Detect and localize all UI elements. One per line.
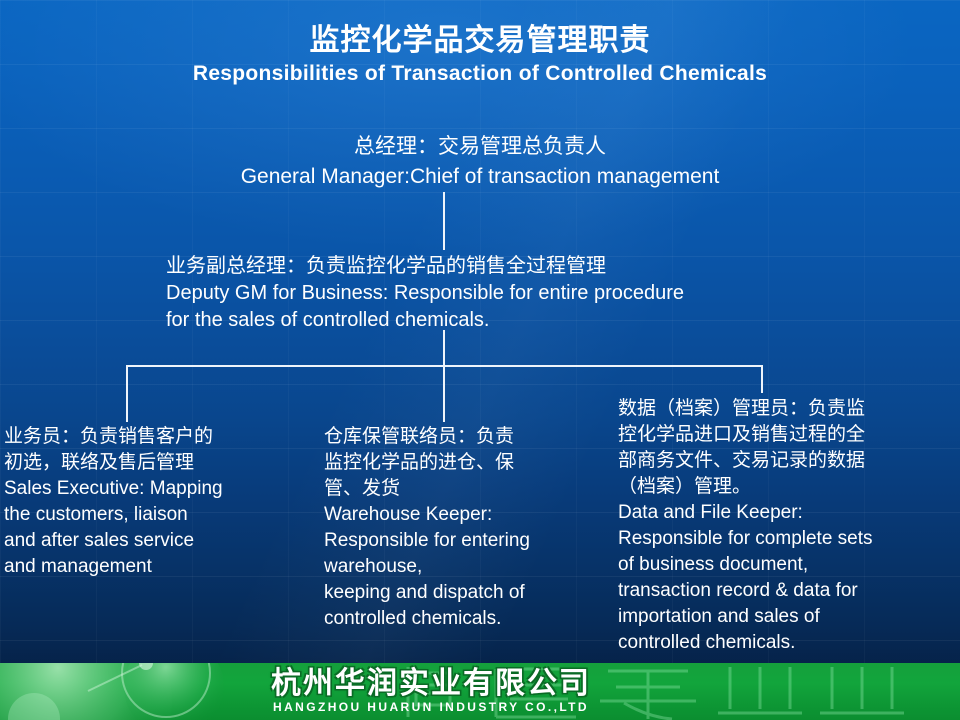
connector-vertical-deputy-to-warehouse xyxy=(443,330,445,422)
sales-executive-chinese-line2: 初选，联络及售后管理 xyxy=(4,450,304,476)
company-name-english: HANGZHOU HUARUN INDUSTRY CO.,LTD xyxy=(196,700,666,715)
data-file-keeper-english-line3: of business document, xyxy=(618,552,954,578)
data-file-keeper-chinese-line3: 部商务文件、交易记录的数据 xyxy=(618,448,954,474)
warehouse-keeper-chinese-line2: 监控化学品的进仓、保 xyxy=(324,450,606,476)
general-manager-english: General Manager:Chief of transaction man… xyxy=(0,162,960,192)
org-node-warehouse-keeper: 仓库保管联络员：负责 监控化学品的进仓、保 管、发货 Warehouse Kee… xyxy=(324,424,606,632)
page-title-chinese: 监控化学品交易管理职责 xyxy=(0,22,960,60)
slide-canvas: 监控化学品交易管理职责 Responsibilities of Transact… xyxy=(0,0,960,720)
sales-executive-english-line1: Sales Executive: Mapping xyxy=(4,476,304,502)
org-node-general-manager: 总经理：交易管理总负责人 General Manager:Chief of tr… xyxy=(0,132,960,192)
data-file-keeper-english-line2: Responsible for complete sets xyxy=(618,526,954,552)
data-file-keeper-english-line5: importation and sales of xyxy=(618,604,954,630)
data-file-keeper-english-line6: controlled chemicals. xyxy=(618,630,954,656)
connector-horizontal-branch-bar xyxy=(126,365,763,367)
org-node-deputy-gm: 业务副总经理：负责监控化学品的销售全过程管理 Deputy GM for Bus… xyxy=(166,252,866,334)
warehouse-keeper-english-line2: Responsible for entering xyxy=(324,528,606,554)
warehouse-keeper-english-line3: warehouse, xyxy=(324,554,606,580)
page-title-english: Responsibilities of Transaction of Contr… xyxy=(0,60,960,88)
data-file-keeper-chinese-line2: 控化学品进口及销售过程的全 xyxy=(618,422,954,448)
connector-vertical-gm-to-deputy xyxy=(443,192,445,250)
warehouse-keeper-english-line4: keeping and dispatch of xyxy=(324,580,606,606)
page-title: 监控化学品交易管理职责 Responsibilities of Transact… xyxy=(0,22,960,88)
connector-vertical-to-sales xyxy=(126,365,128,422)
footer-banner: 杭州华润实业有限公司 HANGZHOU HUARUN INDUSTRY CO.,… xyxy=(0,663,960,720)
deputy-gm-english-line2: for the sales of controlled chemicals. xyxy=(166,307,866,334)
company-logo: 杭州华润实业有限公司 HANGZHOU HUARUN INDUSTRY CO.,… xyxy=(196,667,666,715)
warehouse-keeper-english-line5: controlled chemicals. xyxy=(324,606,606,632)
data-file-keeper-english-line4: transaction record & data for xyxy=(618,578,954,604)
deputy-gm-english-line1: Deputy GM for Business: Responsible for … xyxy=(166,280,866,307)
warehouse-keeper-english-line1: Warehouse Keeper: xyxy=(324,502,606,528)
data-file-keeper-chinese-line4: （档案）管理。 xyxy=(618,474,954,500)
company-name-chinese: 杭州华润实业有限公司 xyxy=(196,667,666,700)
org-node-data-file-keeper: 数据（档案）管理员：负责监 控化学品进口及销售过程的全 部商务文件、交易记录的数… xyxy=(618,396,954,656)
sales-executive-english-line2: the customers, liaison xyxy=(4,502,304,528)
deputy-gm-chinese: 业务副总经理：负责监控化学品的销售全过程管理 xyxy=(166,252,866,280)
data-file-keeper-chinese-line1: 数据（档案）管理员：负责监 xyxy=(618,396,954,422)
org-node-sales-executive: 业务员：负责销售客户的 初选，联络及售后管理 Sales Executive: … xyxy=(4,424,304,580)
sales-executive-chinese-line1: 业务员：负责销售客户的 xyxy=(4,424,304,450)
data-file-keeper-english-line1: Data and File Keeper: xyxy=(618,500,954,526)
warehouse-keeper-chinese-line1: 仓库保管联络员：负责 xyxy=(324,424,606,450)
sales-executive-english-line4: and management xyxy=(4,554,304,580)
warehouse-keeper-chinese-line3: 管、发货 xyxy=(324,476,606,502)
connector-vertical-to-data-keeper xyxy=(761,365,763,393)
general-manager-chinese: 总经理：交易管理总负责人 xyxy=(0,132,960,162)
sales-executive-english-line3: and after sales service xyxy=(4,528,304,554)
